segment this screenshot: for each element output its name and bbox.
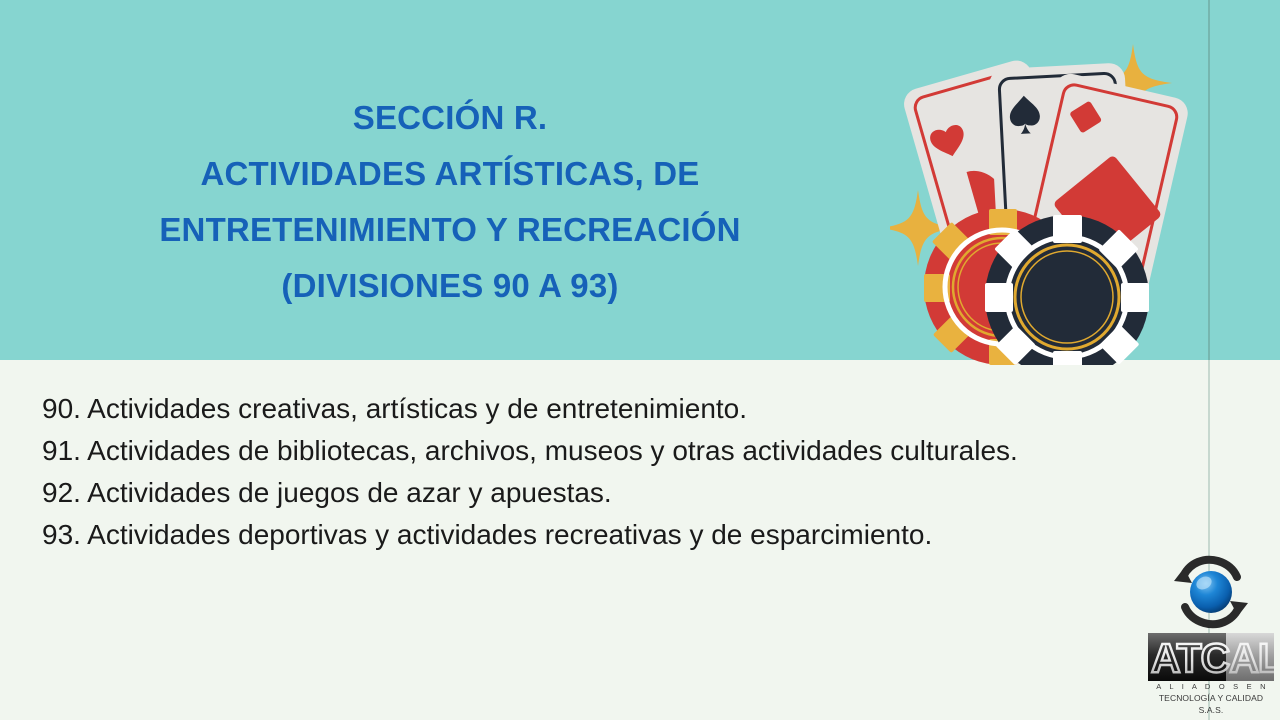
slide-canvas: SECCIÓN R. ACTIVIDADES ARTÍSTICAS, DE EN… [0, 0, 1280, 720]
dark-casino-chip [985, 215, 1149, 365]
title-line-3: ENTRETENIMIENTO Y RECREACIÓN [0, 202, 900, 258]
casino-cards-and-chips-illustration [890, 25, 1200, 365]
atcal-logo: ATCAL A L I A D O S E N TECNOLOGÍA Y CAL… [1148, 553, 1274, 713]
title-line-2: ACTIVIDADES ARTÍSTICAS, DE [0, 146, 900, 202]
svg-text:ATCAL: ATCAL [1151, 635, 1274, 681]
atcal-wordmark: ATCAL [1148, 633, 1274, 681]
list-item: 91. Actividades de bibliotecas, archivos… [42, 430, 1102, 472]
atcal-tagline-line2: TECNOLOGÍA Y CALIDAD S.A.S. [1148, 692, 1274, 716]
atcal-tagline: A L I A D O S E N TECNOLOGÍA Y CALIDAD S… [1148, 681, 1274, 716]
page-title: SECCIÓN R. ACTIVIDADES ARTÍSTICAS, DE EN… [0, 90, 900, 314]
list-item: 90. Actividades creativas, artísticas y … [42, 388, 1102, 430]
atcal-cycle-sphere-icon [1164, 553, 1258, 631]
list-item: 92. Actividades de juegos de azar y apue… [42, 472, 1102, 514]
title-line-4: (DIVISIONES 90 A 93) [0, 258, 900, 314]
division-list: 90. Actividades creativas, artísticas y … [42, 388, 1102, 556]
list-item: 93. Actividades deportivas y actividades… [42, 514, 1102, 556]
title-line-1: SECCIÓN R. [0, 90, 900, 146]
atcal-tagline-line1: A L I A D O S E N [1148, 681, 1274, 692]
